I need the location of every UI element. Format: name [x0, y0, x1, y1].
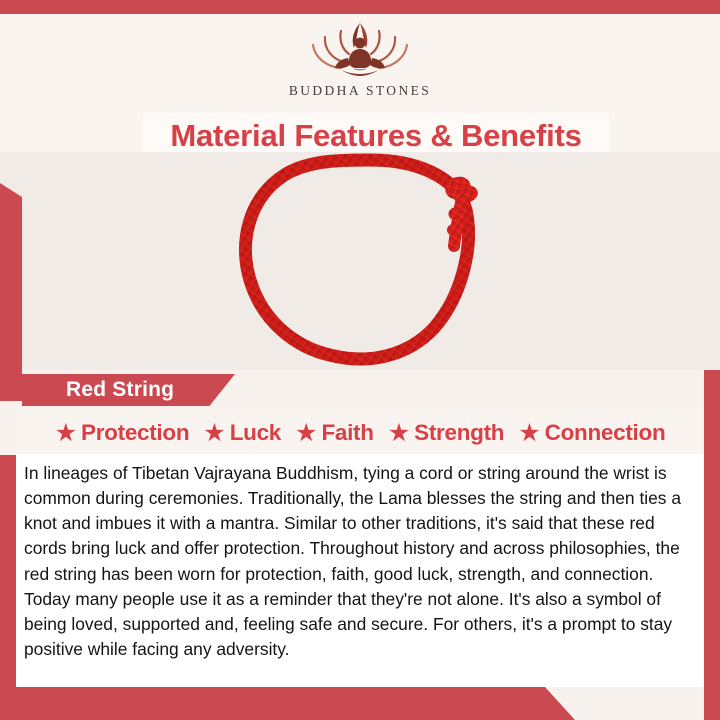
- description-panel: In lineages of Tibetan Vajrayana Buddhis…: [16, 454, 704, 687]
- star-icon: ★: [55, 421, 77, 446]
- lotus-meditating-figure-icon: [301, 18, 419, 80]
- brand-name: BUDDHA STONES: [289, 83, 431, 99]
- benefit-label: Strength: [414, 420, 504, 446]
- benefit-item: ★ Strength: [388, 420, 505, 446]
- benefit-label: Luck: [230, 420, 281, 446]
- header-section: BUDDHA STONES Material Features & Benefi…: [0, 14, 720, 152]
- star-icon: ★: [388, 421, 410, 446]
- description-text: In lineages of Tibetan Vajrayana Buddhis…: [24, 461, 698, 662]
- bottom-accent-bar: [0, 687, 575, 720]
- benefit-item: ★ Protection: [55, 420, 190, 446]
- star-icon: ★: [518, 421, 540, 446]
- page-title: Material Features & Benefits: [170, 118, 581, 154]
- benefits-row: ★ Protection ★ Luck ★ Faith ★ Strength ★…: [16, 412, 704, 454]
- brand-logo: BUDDHA STONES: [0, 18, 720, 99]
- benefit-item: ★ Luck: [203, 420, 281, 446]
- infographic-page: BUDDHA STONES Material Features & Benefi…: [0, 0, 720, 720]
- benefit-label: Connection: [545, 420, 666, 446]
- benefit-label: Protection: [81, 420, 189, 446]
- star-icon: ★: [203, 421, 225, 446]
- left-accent-bar-lower: [0, 455, 16, 687]
- left-accent-bar-upper: [0, 183, 22, 401]
- product-name-ribbon: Red String: [22, 374, 235, 406]
- benefit-label: Faith: [321, 420, 373, 446]
- red-braided-string-bracelet: [222, 150, 512, 370]
- product-image-section: [0, 152, 720, 370]
- star-icon: ★: [295, 421, 317, 446]
- benefit-item: ★ Connection: [518, 420, 665, 446]
- product-name-label: Red String: [66, 378, 174, 402]
- benefit-item: ★ Faith: [295, 420, 374, 446]
- top-accent-bar: [0, 0, 720, 14]
